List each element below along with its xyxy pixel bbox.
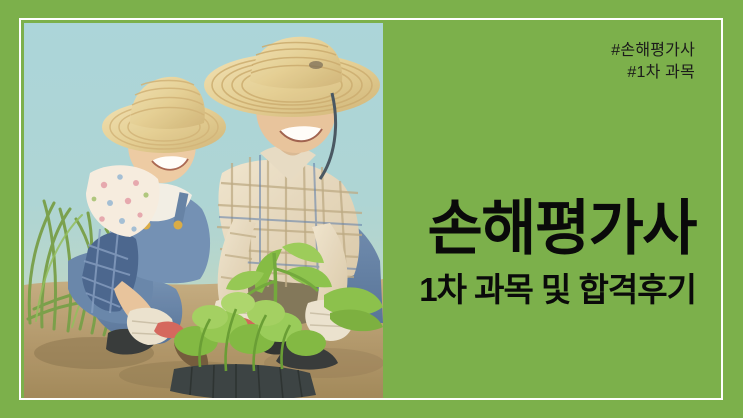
page-title: 손해평가사 [419, 198, 696, 260]
hashtag-item-2: #1차 과목 [611, 62, 695, 84]
hero-photo-illustration [24, 23, 383, 399]
hashtag-item-1: #손해평가사 [611, 40, 695, 62]
hashtag-group: #손해평가사 #1차 과목 [611, 40, 695, 83]
page-subtitle: 1차 과목 및 합격후기 [419, 272, 696, 308]
hero-photo [24, 23, 383, 399]
thumbnail-card: #손해평가사 #1차 과목 손해평가사 1차 과목 및 합격후기 [0, 0, 743, 418]
title-block: 손해평가사 1차 과목 및 합격후기 [419, 198, 696, 309]
